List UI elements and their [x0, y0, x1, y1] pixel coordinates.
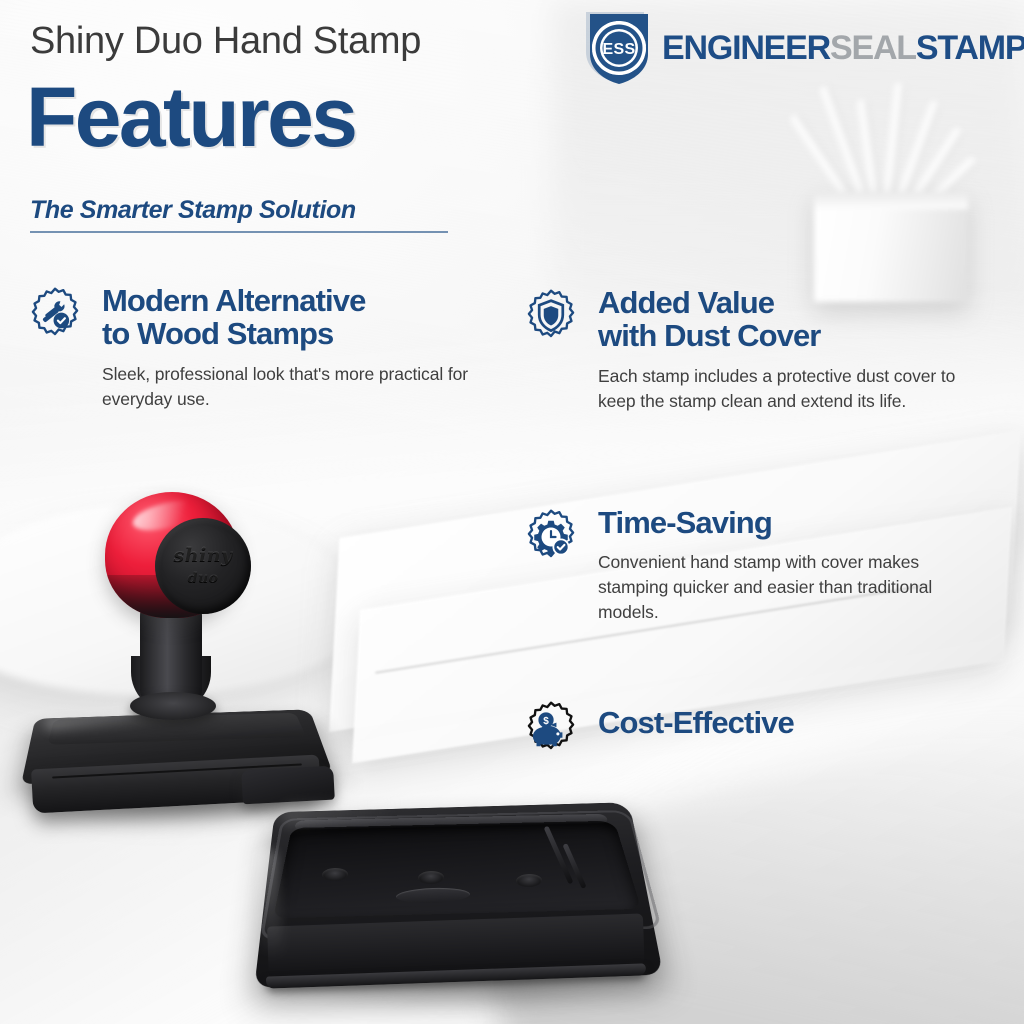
- feature-body: Each stamp includes a protective dust co…: [598, 364, 992, 414]
- stamp-handle-collar: [130, 692, 216, 720]
- logo-word-seal: SEAL: [830, 31, 916, 65]
- feature-title-line2: with Dust Cover: [598, 318, 820, 353]
- shield-badge-icon: [522, 288, 580, 346]
- feature-item-modern-alternative: Modern Alternative to Wood Stamps Sleek,…: [26, 284, 504, 412]
- page-subtitle: The Smarter Stamp Solution: [30, 196, 448, 225]
- feature-title-line1: Added Value: [598, 285, 774, 320]
- ess-logo[interactable]: ESS ENGINEERSEALSTAMPS.COM: [584, 10, 1014, 86]
- logo-word-stamps: STAMPS: [916, 31, 1024, 65]
- knob-emboss-line1: shiny: [155, 544, 251, 566]
- feature-title-line1: Modern Alternative: [102, 283, 365, 318]
- logo-word-engineer: ENGINEER: [662, 31, 830, 65]
- page-title: Features: [26, 78, 355, 158]
- feature-text: Modern Alternative to Wood Stamps Sleek,…: [102, 284, 504, 412]
- dust-cover-secondary: [241, 766, 335, 805]
- feature-text: Added Value with Dust Cover Each stamp i…: [598, 286, 992, 414]
- feature-item-added-value: Added Value with Dust Cover Each stamp i…: [522, 286, 992, 414]
- product-title: Shiny Duo Hand Stamp: [30, 20, 421, 63]
- stamp-knob-logo-disc: shiny duo: [155, 518, 251, 614]
- tools-check-badge-icon: [26, 286, 84, 344]
- blurred-pen-cup: [796, 150, 996, 300]
- feature-title-line2: to Wood Stamps: [102, 316, 333, 351]
- ess-wordmark: ENGINEERSEALSTAMPS.COM: [662, 31, 1024, 65]
- svg-text:ESS: ESS: [603, 41, 636, 58]
- infographic-canvas: Shiny Duo Hand Stamp: [0, 0, 1024, 1024]
- subtitle-block: The Smarter Stamp Solution: [30, 196, 448, 233]
- product-photo-dust-cover: [250, 770, 670, 1024]
- feature-title: Modern Alternative to Wood Stamps: [102, 284, 504, 351]
- ess-badge-icon: ESS: [584, 10, 654, 86]
- feature-title: Added Value with Dust Cover: [598, 286, 992, 353]
- knob-emboss-line2: duo: [155, 570, 251, 586]
- subtitle-underline: [30, 231, 448, 233]
- feature-body: Sleek, professional look that's more pra…: [102, 362, 504, 412]
